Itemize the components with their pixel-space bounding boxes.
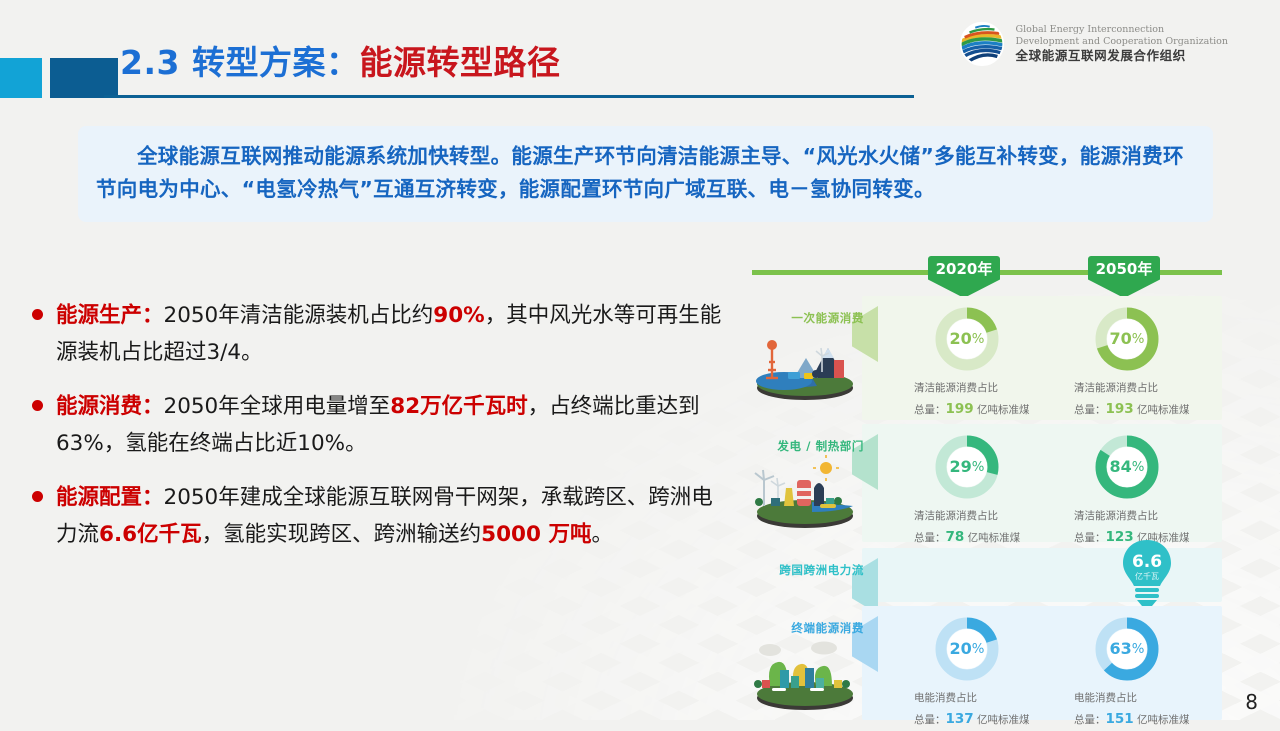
infographic-row-cross-border-power-flow: 跨国跨洲电力流 6.6 亿千瓦 6.6亿千瓦 <box>752 548 1222 602</box>
donut-percent-value: 29 <box>950 459 972 475</box>
page-number: 8 <box>1245 690 1258 714</box>
caption-title: 电能消费占比 <box>914 690 1074 708</box>
donut-percent-value: 70 <box>1110 331 1132 347</box>
donut-center: 29% <box>947 447 987 487</box>
light-bulb-icon: 6.6 亿千瓦 <box>1120 538 1174 608</box>
total-label: 总量： <box>1074 532 1106 544</box>
bullet-dot-icon <box>32 400 43 411</box>
bullet-text: 能源消费：2050年全球用电量增至82万亿千瓦时，占终端比重达到63%，氢能在终… <box>56 389 722 463</box>
bullet-item: 能源配置：2050年建成全球能源互联网骨干网架，承载跨区、跨洲电力流6.6亿千瓦… <box>32 480 722 554</box>
header-accent-square-navy <box>50 58 118 98</box>
summary-callout-box: 全球能源互联网推动能源系统加快转型。能源生产环节向清洁能源主导、“风光水火储”多… <box>78 126 1213 222</box>
bullet-highlight-value: 5000 万吨 <box>481 522 591 547</box>
page-title: 2.3 转型方案：能源转型路径 <box>120 36 560 84</box>
donut-caption: 电能消费占比 总量：151 亿吨标准煤 <box>1074 690 1234 731</box>
row-label: 跨国跨洲电力流 <box>779 562 864 578</box>
bullet-body-text: 。 <box>591 522 613 547</box>
bullet-lead-label: 能源生产： <box>56 303 164 328</box>
bullet-highlight-value: 82万亿千瓦时 <box>390 394 527 419</box>
total-value: 137 <box>946 711 974 727</box>
caption-total: 总量：151 亿吨标准煤 <box>1074 708 1234 731</box>
caption-total: 总量：193 亿吨标准煤 <box>1074 398 1234 421</box>
bullet-text: 能源配置：2050年建成全球能源互联网骨干网架，承载跨区、跨洲电力流6.6亿千瓦… <box>56 480 722 554</box>
row-label: 发电 / 制热部门 <box>777 438 864 454</box>
offshore-oil-and-mountain-island-illustration <box>750 326 860 402</box>
caption-total: 总量：78 亿吨标准煤 <box>914 526 1074 549</box>
bullet-body-text: 2050年清洁能源装机占比约 <box>164 303 434 328</box>
donut-center: 63% <box>1107 629 1147 669</box>
total-unit: 亿吨标准煤 <box>977 404 1030 416</box>
year-badge-label: 2050年 <box>1088 258 1160 279</box>
year-badge-2050: 2050年 <box>1088 256 1160 298</box>
wind-farm-and-power-plant-island-illustration <box>750 454 860 530</box>
caption-title: 清洁能源消费占比 <box>914 508 1074 526</box>
energy-transition-infographic: 2020年 2050年 一次能源消费 <box>752 252 1222 720</box>
caption-title: 清洁能源消费占比 <box>1074 380 1234 398</box>
infographic-row-final-energy: 终端能源消费 20% 电能消费占比 总量：137 亿吨标准煤 63% <box>752 606 1222 720</box>
total-unit: 亿吨标准煤 <box>968 532 1021 544</box>
light-bulb-svg: 6.6 亿千瓦 <box>1120 538 1174 608</box>
bullet-lead-label: 能源配置： <box>56 485 164 510</box>
total-label: 总量： <box>914 532 946 544</box>
donut-percent-unit: % <box>972 460 985 475</box>
bullet-body-text: ，氢能实现跨区、跨洲输送约 <box>202 522 482 547</box>
donut-percent-unit: % <box>972 332 985 347</box>
donut-percent-value: 20 <box>950 331 972 347</box>
donut-caption: 清洁能源消费占比 总量：78 亿吨标准煤 <box>914 508 1074 549</box>
caption-total: 总量：199 亿吨标准煤 <box>914 398 1074 421</box>
donut-center: 20% <box>947 629 987 669</box>
bullet-dot-icon <box>32 309 43 320</box>
year-badge-2020: 2020年 <box>928 256 1000 298</box>
bullet-lead-label: 能源消费： <box>56 394 164 419</box>
slide-header: 2.3 转型方案：能源转型路径 Global Energy Interconne… <box>0 0 1280 110</box>
infographic-row-primary-energy: 一次能源消费 20% 清洁能源消费 <box>752 296 1222 420</box>
total-value: 193 <box>1106 401 1134 417</box>
donut-chart: 63% <box>1094 616 1160 682</box>
bullet-list: 能源生产：2050年清洁能源装机占比约90%，其中风光水等可再生能源装机占比超过… <box>32 298 722 571</box>
donut-caption: 电能消费占比 总量：137 亿吨标准煤 <box>914 690 1074 731</box>
infographic-row-power-heat: 发电 / 制热部门 <box>752 424 1222 542</box>
donut-percent-value: 84 <box>1110 459 1132 475</box>
donut-chart: 29% <box>934 434 1000 500</box>
summary-callout-text: 全球能源互联网推动能源系统加快转型。能源生产环节向清洁能源主导、“风光水火储”多… <box>96 140 1195 206</box>
bullet-dot-icon <box>32 491 43 502</box>
donut-chart: 20% <box>934 616 1000 682</box>
donut-percent-unit: % <box>1132 460 1145 475</box>
row-illustration <box>750 326 860 402</box>
caption-title: 清洁能源消费占比 <box>914 380 1074 398</box>
bullet-highlight-value: 90% <box>433 303 484 328</box>
svg-text:6.6: 6.6 <box>1132 552 1162 572</box>
caption-title: 电能消费占比 <box>1074 690 1234 708</box>
row-illustration <box>750 454 860 530</box>
year-badge-label: 2020年 <box>928 258 1000 279</box>
page-title-main: 能源转型路径 <box>359 43 560 82</box>
total-value: 151 <box>1106 711 1134 727</box>
donut-percent-value: 20 <box>950 641 972 657</box>
donut-center: 84% <box>1107 447 1147 487</box>
bullet-item: 能源消费：2050年全球用电量增至82万亿千瓦时，占终端比重达到63%，氢能在终… <box>32 389 722 463</box>
total-value: 199 <box>946 401 974 417</box>
page-title-prefix: 2.3 转型方案： <box>120 43 359 82</box>
total-value: 78 <box>946 529 965 545</box>
bullet-text: 能源生产：2050年清洁能源装机占比约90%，其中风光水等可再生能源装机占比超过… <box>56 298 722 372</box>
donut-percent-unit: % <box>972 642 985 657</box>
organization-logo: Global Energy Interconnection Developmen… <box>958 20 1228 68</box>
logo-text-en-line2: Development and Cooperation Organization <box>1016 36 1228 47</box>
caption-title: 清洁能源消费占比 <box>1074 508 1234 526</box>
bullet-item: 能源生产：2050年清洁能源装机占比约90%，其中风光水等可再生能源装机占比超过… <box>32 298 722 372</box>
row-label: 终端能源消费 <box>791 620 864 636</box>
caption-total: 总量：137 亿吨标准煤 <box>914 708 1074 731</box>
donut-percent-unit: % <box>1132 332 1145 347</box>
donut-caption: 清洁能源消费占比 总量：199 亿吨标准煤 <box>914 380 1074 421</box>
donut-caption: 清洁能源消费占比 总量：193 亿吨标准煤 <box>1074 380 1234 421</box>
donut-center: 20% <box>947 319 987 359</box>
green-city-island-illustration <box>750 636 860 712</box>
donut-chart: 84% <box>1094 434 1160 500</box>
bullet-body-text: 2050年全球用电量增至 <box>164 394 391 419</box>
row-illustration <box>750 636 860 712</box>
logo-text-en-line1: Global Energy Interconnection <box>1016 24 1228 35</box>
title-underline <box>104 95 914 98</box>
svg-text:亿千瓦: 亿千瓦 <box>1135 571 1159 581</box>
row-label: 一次能源消费 <box>791 310 864 326</box>
logo-text-cn: 全球能源互联网发展合作组织 <box>1016 49 1228 64</box>
total-label: 总量： <box>914 404 946 416</box>
bullet-highlight-value: 6.6亿千瓦 <box>99 522 202 547</box>
header-accent-square-cyan <box>0 58 42 98</box>
total-unit: 亿吨标准煤 <box>1137 404 1190 416</box>
donut-percent-value: 63 <box>1110 641 1132 657</box>
donut-chart: 20% <box>934 306 1000 372</box>
donut-percent-unit: % <box>1132 642 1145 657</box>
donut-center: 70% <box>1107 319 1147 359</box>
total-label: 总量： <box>1074 404 1106 416</box>
donut-chart: 70% <box>1094 306 1160 372</box>
globe-icon <box>958 20 1006 68</box>
